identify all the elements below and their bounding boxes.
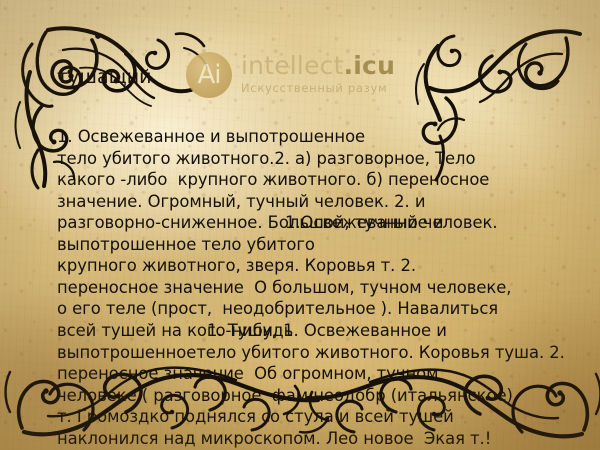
presentation-slide: Ai intellect.icu Искусственный разум туш… — [0, 0, 600, 450]
watermark-brand: intellect.icu — [241, 53, 395, 79]
definition-paragraph-4-body: т. Громоздко поднялся со стула и всей ту… — [57, 407, 491, 448]
watermark-brand-main: intellect — [241, 51, 344, 80]
watermark-tagline: Искусственный разум — [241, 79, 395, 97]
definition-paragraph-3: 1. Туши, 1. Освежеванное и выпотрошенное… — [57, 320, 569, 406]
ai-logo-icon: Ai — [186, 52, 232, 98]
definition-paragraph-4: т. Громоздко поднялся со стула и всей ту… — [57, 406, 577, 450]
page-title: тушащий — [57, 66, 152, 88]
watermark: Ai intellect.icu Искусственный разум — [186, 52, 395, 98]
watermark-brand-tld: .icu — [344, 51, 395, 80]
definition-paragraph-2-marker: 1. — [285, 213, 301, 232]
watermark-text: intellect.icu Искусственный разум — [241, 53, 395, 97]
